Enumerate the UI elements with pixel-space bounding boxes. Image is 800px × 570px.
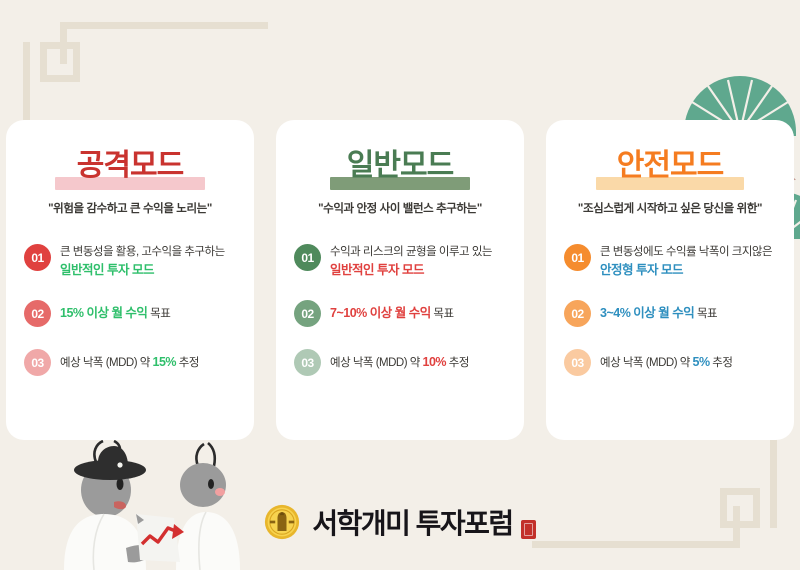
card-subtitle: "조심스럽게 시작하고 싶은 당신을 위한" <box>564 200 776 216</box>
item-line-2-emphasis: 일반적인 투자 모드 <box>330 263 492 278</box>
corner-frame-top-left-horizontal <box>60 22 268 29</box>
item-text: 15% 이상 월 수익 목표 <box>60 305 170 322</box>
mode-cards-container: 공격모드 "위험을 감수하고 큰 수익을 노리는" 01 큰 변동성을 활용, … <box>0 120 800 440</box>
mode-card-aggressive[interactable]: 공격모드 "위험을 감수하고 큰 수익을 노리는" 01 큰 변동성을 활용, … <box>6 120 254 440</box>
item-prefix: 예상 낙폭 (MDD) 약 <box>330 357 423 369</box>
item-badge-02: 02 <box>24 300 51 327</box>
item-line-1: 큰 변동성을 활용, 고수익을 추구하는 <box>60 246 225 258</box>
card-item-list: 01 수익과 리스크의 균형을 이루고 있는 일반적인 투자 모드 02 7~1… <box>294 244 506 376</box>
card-subtitle: "위험을 감수하고 큰 수익을 노리는" <box>24 200 236 216</box>
list-item: 01 수익과 리스크의 균형을 이루고 있는 일반적인 투자 모드 <box>294 244 506 278</box>
item-text: 3~4% 이상 월 수익 목표 <box>600 305 717 322</box>
item-line-1: 큰 변동성에도 수익률 낙폭이 크지않은 <box>600 246 772 258</box>
item-emphasis: 7~10% 이상 월 수익 <box>330 306 431 320</box>
item-badge-03: 03 <box>24 349 51 376</box>
card-subtitle: "수익과 안정 사이 밸런스 추구하는" <box>294 200 506 216</box>
card-item-list: 01 큰 변동성을 활용, 고수익을 추구하는 일반적인 투자 모드 02 15… <box>24 244 236 376</box>
item-text: 수익과 리스크의 균형을 이루고 있는 일반적인 투자 모드 <box>330 244 492 278</box>
brand-name: 서학개미 투자포럼 <box>312 502 512 542</box>
item-rest: 목표 <box>147 308 170 320</box>
gold-coin-icon <box>264 504 300 540</box>
item-badge-01: 01 <box>564 244 591 271</box>
item-emphasis: 15% <box>153 355 177 369</box>
item-badge-02: 02 <box>294 300 321 327</box>
card-title-area: 안전모드 <box>564 146 776 192</box>
list-item: 01 큰 변동성을 활용, 고수익을 추구하는 일반적인 투자 모드 <box>24 244 236 278</box>
item-badge-01: 01 <box>294 244 321 271</box>
list-item: 02 3~4% 이상 월 수익 목표 <box>564 300 776 327</box>
mode-card-normal[interactable]: 일반모드 "수익과 안정 사이 밸런스 추구하는" 01 수익과 리스크의 균형… <box>276 120 524 440</box>
mode-card-safe[interactable]: 안전모드 "조심스럽게 시작하고 싶은 당신을 위한" 01 큰 변동성에도 수… <box>546 120 794 440</box>
corner-frame-top-left-square <box>40 42 80 82</box>
card-title-area: 일반모드 <box>294 146 506 192</box>
card-title: 안전모드 <box>617 149 723 182</box>
corner-frame-bottom-right-horizontal <box>532 541 740 548</box>
item-line-1: 수익과 리스크의 균형을 이루고 있는 <box>330 246 492 258</box>
item-prefix: 예상 낙폭 (MDD) 약 <box>60 357 153 369</box>
item-text: 예상 낙폭 (MDD) 약 10% 추정 <box>330 354 469 371</box>
item-badge-01: 01 <box>24 244 51 271</box>
list-item: 02 15% 이상 월 수익 목표 <box>24 300 236 327</box>
item-badge-03: 03 <box>564 349 591 376</box>
item-text: 예상 낙폭 (MDD) 약 15% 추정 <box>60 354 199 371</box>
item-line-2-emphasis: 일반적인 투자 모드 <box>60 263 225 278</box>
item-text: 7~10% 이상 월 수익 목표 <box>330 305 454 322</box>
card-title-area: 공격모드 <box>24 146 236 192</box>
item-emphasis: 5% <box>693 355 710 369</box>
list-item: 03 예상 낙폭 (MDD) 약 15% 추정 <box>24 349 236 376</box>
card-item-list: 01 큰 변동성에도 수익률 낙폭이 크지않은 안정형 투자 모드 02 3~4… <box>564 244 776 376</box>
item-rest: 목표 <box>431 308 454 320</box>
item-emphasis: 3~4% 이상 월 수익 <box>600 306 694 320</box>
list-item: 03 예상 낙폭 (MDD) 약 10% 추정 <box>294 349 506 376</box>
item-text: 예상 낙폭 (MDD) 약 5% 추정 <box>600 354 732 371</box>
corner-frame-top-left-vertical <box>60 22 67 64</box>
item-suffix: 추정 <box>446 357 469 369</box>
list-item: 01 큰 변동성에도 수익률 낙폭이 크지않은 안정형 투자 모드 <box>564 244 776 278</box>
item-emphasis: 15% 이상 월 수익 <box>60 306 147 320</box>
list-item: 03 예상 낙폭 (MDD) 약 5% 추정 <box>564 349 776 376</box>
list-item: 02 7~10% 이상 월 수익 목표 <box>294 300 506 327</box>
item-text: 큰 변동성을 활용, 고수익을 추구하는 일반적인 투자 모드 <box>60 244 225 278</box>
item-badge-02: 02 <box>564 300 591 327</box>
item-badge-03: 03 <box>294 349 321 376</box>
brand-logo: 서학개미 투자포럼 <box>0 502 800 542</box>
item-suffix: 추정 <box>176 357 199 369</box>
item-rest: 목표 <box>694 308 717 320</box>
item-text: 큰 변동성에도 수익률 낙폭이 크지않은 안정형 투자 모드 <box>600 244 772 278</box>
card-title: 공격모드 <box>77 149 183 182</box>
item-suffix: 추정 <box>710 357 733 369</box>
card-title: 일반모드 <box>347 149 453 182</box>
red-seal-stamp-icon <box>521 520 536 539</box>
item-emphasis: 10% <box>423 355 447 369</box>
item-prefix: 예상 낙폭 (MDD) 약 <box>600 357 693 369</box>
item-line-2-emphasis: 안정형 투자 모드 <box>600 263 772 278</box>
